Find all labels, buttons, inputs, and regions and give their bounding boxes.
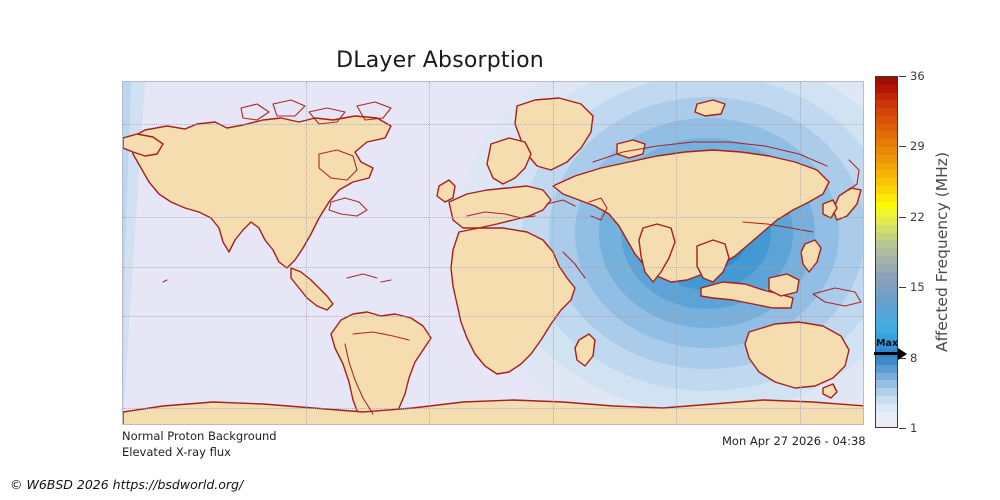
colorbar-segment: [876, 295, 897, 303]
colorbar-tick-label: 29: [910, 139, 925, 153]
colorbar-tick-mark: [899, 217, 906, 218]
page-title: DLayer Absorption: [0, 48, 880, 73]
colorbar-segment: [876, 419, 897, 427]
colorbar-segment: [876, 396, 897, 404]
map-inner: [123, 82, 863, 424]
colorbar-axis-label-text: Affected Frequency (MHz): [933, 152, 951, 352]
colorbar-segment: [876, 194, 897, 202]
max-marker-arrow-head: [898, 348, 907, 360]
timestamp: Mon Apr 27 2026 - 04:38: [722, 434, 866, 448]
colorbar-segment: [876, 100, 897, 108]
colorbar-segment: [876, 404, 897, 412]
colorbar-segment: [876, 256, 897, 264]
colorbar-segment: [876, 163, 897, 171]
max-marker: Max: [874, 339, 910, 365]
colorbar-segment: [876, 131, 897, 139]
map-canvas[interactable]: [122, 81, 864, 425]
colorbar-segment: [876, 186, 897, 194]
status-line-proton: Normal Proton Background: [122, 429, 277, 443]
colorbar-segment: [876, 279, 897, 287]
colorbar-segment: [876, 380, 897, 388]
colorbar-segment: [876, 225, 897, 233]
colorbar-tick-mark: [899, 146, 906, 147]
colorbar-segment: [876, 170, 897, 178]
max-marker-label: Max: [876, 338, 898, 349]
colorbar-segment: [876, 318, 897, 326]
colorbar-tick-mark: [899, 287, 906, 288]
colorbar-segment: [876, 388, 897, 396]
colorbar-tick-label: 36: [910, 69, 925, 83]
colorbar-segment: [876, 139, 897, 147]
colorbar-segment: [876, 240, 897, 248]
status-line-xray: Elevated X-ray flux: [122, 445, 231, 459]
colorbar-axis-label: Affected Frequency (MHz): [930, 76, 954, 428]
colorbar-segment: [876, 124, 897, 132]
colorbar-tick-mark: [899, 76, 906, 77]
colorbar-segment: [876, 326, 897, 334]
max-marker-arrow-shaft: [874, 352, 900, 355]
colorbar-segment: [876, 310, 897, 318]
colorbar-segment: [876, 217, 897, 225]
colorbar-segment: [876, 147, 897, 155]
copyright-footer: © W6BSD 2026 https://bsdworld.org/: [10, 477, 243, 492]
colorbar-segment: [876, 116, 897, 124]
figure-root: DLayer Absorption: [0, 0, 1000, 500]
colorbar-segment: [876, 178, 897, 186]
colorbar-tick-label: 22: [910, 210, 925, 224]
colorbar[interactable]: 3629221581: [875, 76, 898, 428]
colorbar-segment: [876, 287, 897, 295]
colorbar-segment: [876, 248, 897, 256]
colorbar-tick-label: 8: [910, 351, 917, 365]
colorbar-segment: [876, 85, 897, 93]
colorbar-tick-mark: [899, 428, 906, 429]
map-graphics: [123, 82, 864, 425]
colorbar-segment: [876, 108, 897, 116]
colorbar-segment: [876, 303, 897, 311]
colorbar-segment: [876, 272, 897, 280]
colorbar-segment: [876, 77, 897, 85]
colorbar-segment: [876, 365, 897, 373]
colorbar-tick-label: 15: [910, 280, 925, 294]
colorbar-segment: [876, 412, 897, 420]
colorbar-segment: [876, 264, 897, 272]
colorbar-tick-label: 1: [910, 421, 917, 435]
colorbar-segment: [876, 202, 897, 210]
colorbar-gradient: [875, 76, 898, 428]
colorbar-segment: [876, 93, 897, 101]
colorbar-segment: [876, 209, 897, 217]
colorbar-segment: [876, 155, 897, 163]
colorbar-segment: [876, 233, 897, 241]
colorbar-segment: [876, 373, 897, 381]
